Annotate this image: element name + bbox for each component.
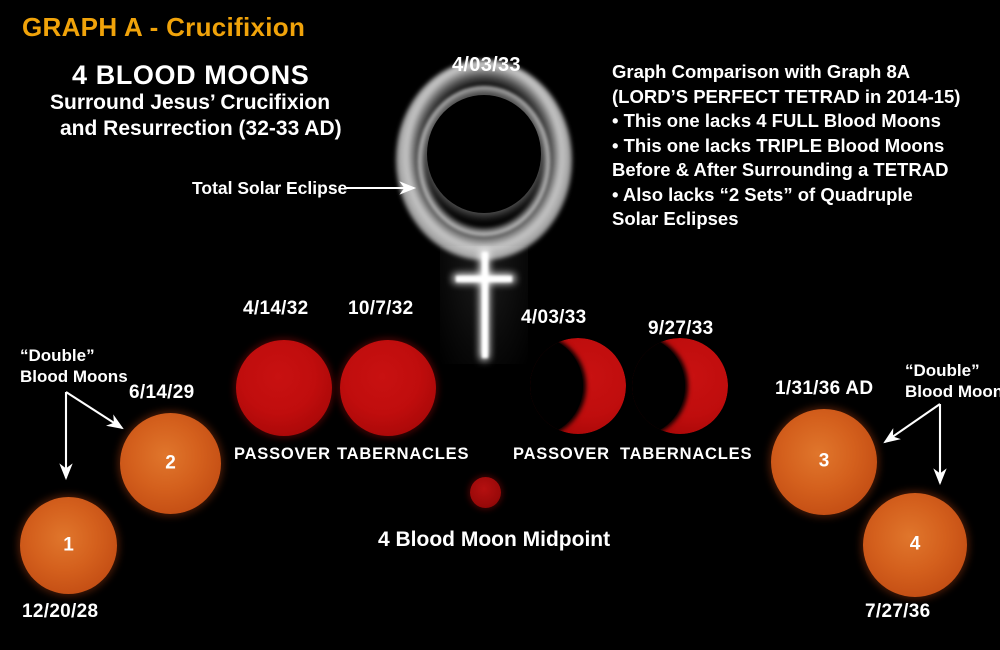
note-line: • This one lacks TRIPLE Blood Moons (612, 134, 1000, 159)
blood-moon-full-2 (340, 340, 436, 436)
outer-moon-date-3: 1/31/36 AD (775, 378, 873, 400)
tetrad-date-label: 4/03/33 (521, 307, 587, 329)
outer-blood-moon-3: 3 (771, 409, 877, 515)
tetrad-date-label: 10/7/32 (348, 298, 414, 320)
tetrad-feast-label: PASSOVER (234, 445, 331, 464)
main-heading: 4 BLOOD MOONS (72, 60, 309, 92)
moon-number: 1 (20, 534, 117, 556)
note-line: Before & After Surrounding a TETRAD (612, 158, 1000, 183)
outer-blood-moon-2: 2 (120, 413, 221, 514)
blood-moon-full-1 (236, 340, 332, 436)
double-blood-moons-label-right: “Double” Blood Moons (905, 360, 1000, 402)
tetrad-date-label: 4/14/32 (243, 298, 309, 320)
cross-horizontal-core (456, 276, 512, 282)
double-blood-moons-label-left: “Double” Blood Moons (20, 345, 128, 387)
comparison-notes: Graph Comparison with Graph 8A (LORD’S P… (612, 60, 1000, 232)
dbl-left-line1: “Double” (20, 346, 95, 365)
total-solar-eclipse-graphic (396, 60, 572, 260)
page-title: GRAPH A - Crucifixion (22, 12, 305, 43)
dbl-left-line2: Blood Moons (20, 367, 128, 386)
eclipse-umbra-disc (427, 95, 541, 213)
subtitle-line-1: Surround Jesus’ Crucifixion (50, 91, 330, 116)
note-line: • Also lacks “2 Sets” of Quadruple (612, 183, 1000, 208)
midpoint-label: 4 Blood Moon Midpoint (378, 528, 610, 553)
blood-moon-partial-3 (530, 338, 626, 434)
outer-moon-date-1: 12/20/28 (22, 601, 98, 623)
moon-number: 4 (863, 534, 967, 556)
outer-blood-moon-1: 1 (20, 497, 117, 594)
blood-moon-partial-4 (632, 338, 728, 434)
total-solar-eclipse-label: Total Solar Eclipse (192, 178, 347, 199)
arrow-to-moon-3 (885, 404, 940, 442)
cross-vertical-core (482, 252, 488, 358)
tetrad-feast-label: TABERNACLES (337, 445, 469, 464)
dbl-right-line2: Blood Moons (905, 382, 1000, 401)
note-line: (LORD’S PERFECT TETRAD in 2014-15) (612, 85, 1000, 110)
note-line: • This one lacks 4 FULL Blood Moons (612, 109, 1000, 134)
subtitle-line-2: and Resurrection (32-33 AD) (60, 117, 342, 142)
midpoint-dot (470, 477, 501, 508)
tetrad-feast-label: PASSOVER (513, 445, 610, 464)
outer-blood-moon-4: 4 (863, 493, 967, 597)
infographic-canvas: GRAPH A - Crucifixion 4 BLOOD MOONS Surr… (0, 0, 1000, 650)
moon-number: 2 (120, 452, 221, 474)
tetrad-feast-label: TABERNACLES (620, 445, 752, 464)
moon-number: 3 (771, 451, 877, 473)
cross-graphic (440, 246, 528, 364)
outer-moon-date-2: 6/14/29 (129, 382, 195, 404)
note-line: Graph Comparison with Graph 8A (612, 60, 1000, 85)
dbl-right-line1: “Double” (905, 361, 980, 380)
outer-moon-date-4: 7/27/36 (865, 601, 931, 623)
note-line: Solar Eclipses (612, 207, 1000, 232)
arrow-to-moon-2 (66, 392, 122, 428)
